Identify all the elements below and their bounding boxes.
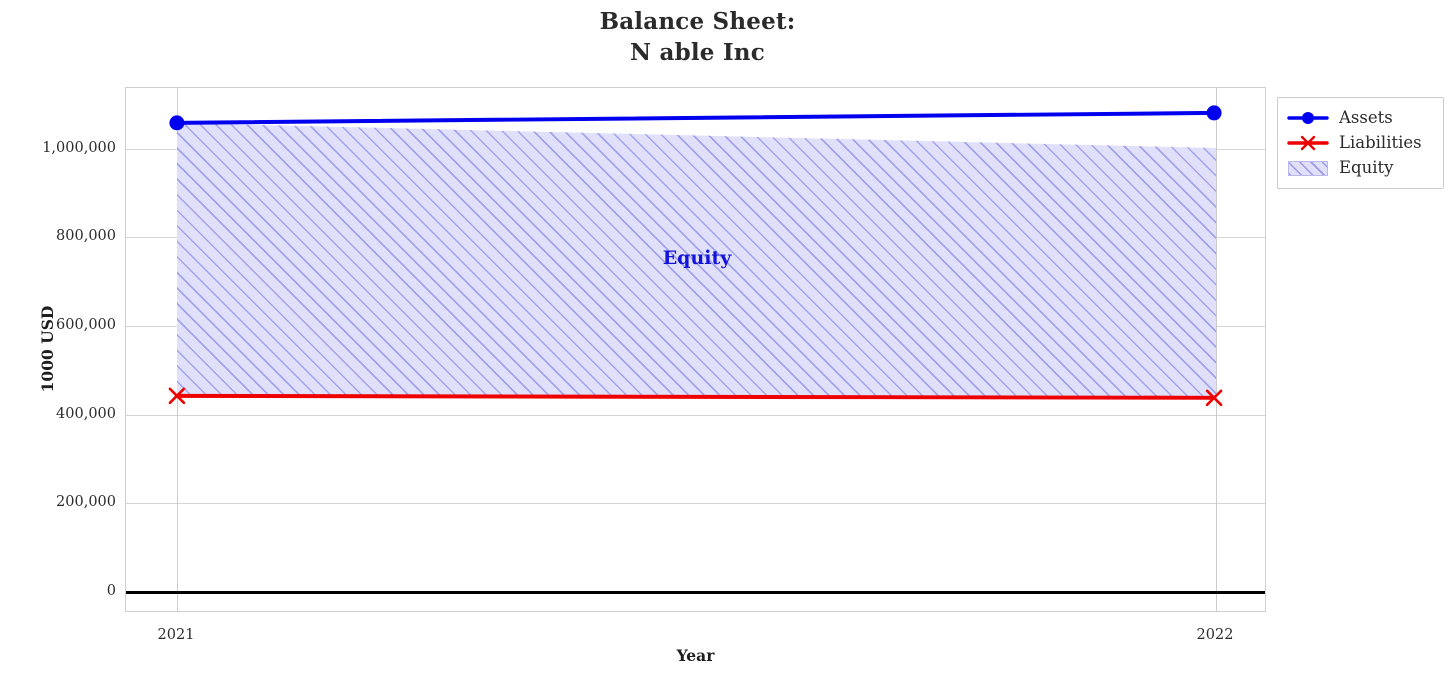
xtick-label-2022: 2022: [1197, 627, 1234, 643]
chart-title: Balance Sheet: N able Inc: [0, 6, 1395, 68]
data-point-assets-2021: [169, 115, 184, 130]
legend-label-equity: Equity: [1339, 158, 1393, 177]
legend-label-liabilities: Liabilities: [1339, 133, 1422, 152]
ytick-label-0: 0: [18, 583, 116, 599]
series-line-liabilities: [177, 396, 1214, 398]
legend-hatched-patch-icon: [1286, 157, 1330, 179]
chart-title-line2: N able Inc: [0, 37, 1395, 68]
chart-legend: Assets Liabilities Equity: [1277, 97, 1444, 189]
equity-annotation-label: Equity: [663, 247, 732, 269]
legend-line-marker-icon: [1286, 107, 1330, 129]
series-line-assets: [177, 113, 1214, 123]
legend-item-assets[interactable]: Assets: [1286, 105, 1435, 130]
series-overlay: [126, 88, 1265, 611]
ytick-label-800000: 800,000: [18, 228, 116, 244]
ytick-label-200000: 200,000: [18, 494, 116, 510]
ytick-label-600000: 600,000: [18, 317, 116, 333]
legend-label-assets: Assets: [1339, 108, 1393, 127]
chart-title-line1: Balance Sheet:: [600, 8, 796, 35]
y-axis-title: 1000 USD: [38, 306, 57, 393]
x-axis-title: Year: [125, 646, 1266, 665]
legend-line-x-marker-icon: [1286, 132, 1330, 154]
ytick-label-400000: 400,000: [18, 406, 116, 422]
xtick-label-2021: 2021: [158, 627, 195, 643]
legend-item-equity[interactable]: Equity: [1286, 155, 1435, 180]
data-point-assets-2022: [1207, 105, 1222, 120]
ytick-label-1000000: 1,000,000: [18, 140, 116, 156]
legend-item-liabilities[interactable]: Liabilities: [1286, 130, 1435, 155]
plot-area: Equity: [125, 87, 1266, 612]
